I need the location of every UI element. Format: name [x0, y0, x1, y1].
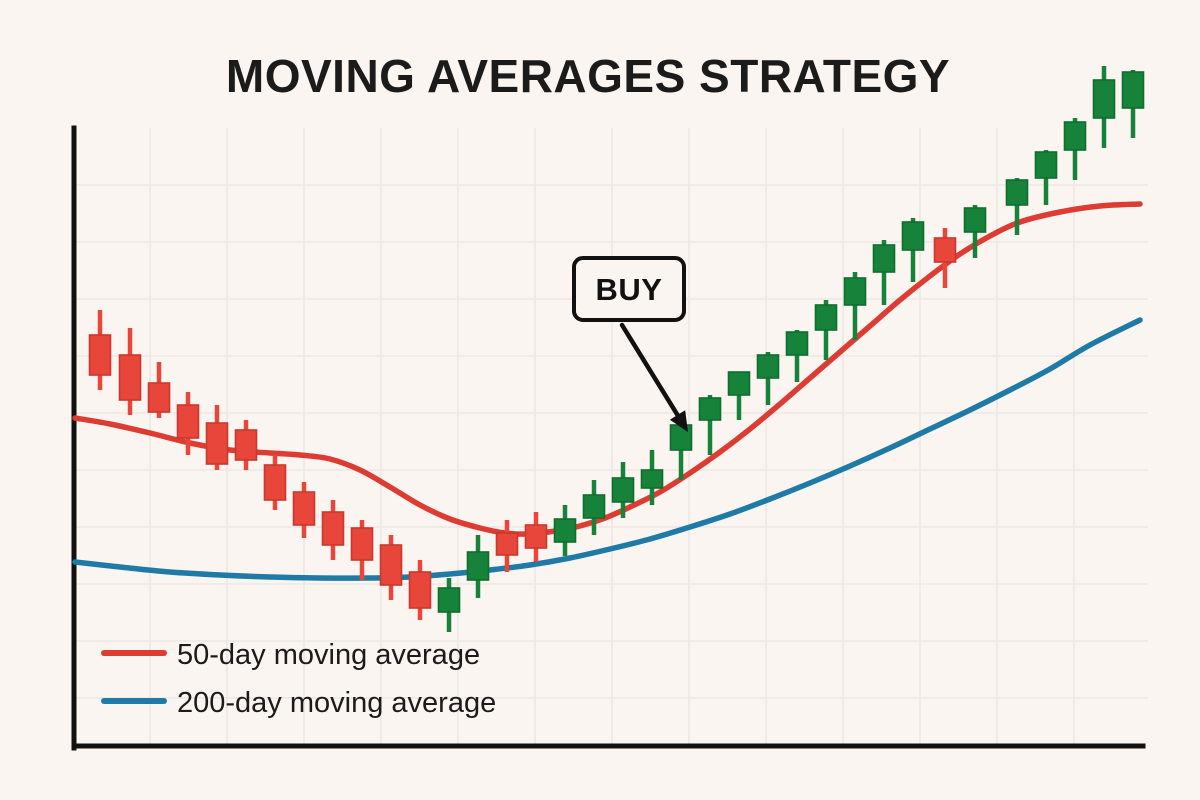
legend-label-0: 50-day moving average	[177, 639, 480, 671]
candle-body	[903, 222, 924, 250]
buy-label-text: BUY	[596, 272, 663, 307]
chart-canvas: BUY 50-day moving average200-day moving …	[0, 0, 1200, 800]
candle-body	[555, 519, 576, 542]
candle-body	[1123, 72, 1144, 108]
candle-body	[758, 355, 779, 378]
candle-body	[526, 525, 547, 548]
candle-body	[729, 372, 750, 395]
candle-body	[323, 512, 344, 545]
candle-body	[497, 533, 518, 555]
candle-body	[352, 528, 373, 560]
chart-background	[0, 0, 1200, 800]
candle-body	[1094, 80, 1115, 118]
candle-body	[671, 425, 692, 450]
candle-body	[613, 478, 634, 502]
candle-body	[120, 355, 141, 400]
candle-body	[584, 495, 605, 518]
candle-body	[935, 238, 956, 262]
candle-body	[90, 335, 111, 375]
candle-body	[178, 405, 199, 438]
candle-body	[265, 465, 286, 500]
candle-body	[149, 383, 170, 412]
candle-body	[700, 398, 721, 420]
candle-body	[874, 245, 895, 272]
legend-label-1: 200-day moving average	[177, 687, 496, 719]
moving-averages-chart: BUY 50-day moving average200-day moving …	[0, 0, 1200, 800]
candle-body	[787, 332, 808, 355]
candle-body	[845, 278, 866, 305]
candle-body	[381, 545, 402, 585]
candle-body	[1036, 152, 1057, 178]
candle-body	[642, 470, 663, 488]
candle-body	[439, 588, 460, 612]
candle-body	[816, 305, 837, 330]
candle-body	[236, 430, 257, 460]
candle-body	[468, 552, 489, 580]
candle-body	[965, 208, 986, 232]
candle-body	[410, 572, 431, 608]
chart-title: MOVING AVERAGES STRATEGY	[226, 50, 950, 102]
candle-body	[294, 492, 315, 525]
candle-body	[1065, 122, 1086, 150]
candle-body	[1007, 180, 1028, 205]
candle-body	[207, 423, 228, 464]
